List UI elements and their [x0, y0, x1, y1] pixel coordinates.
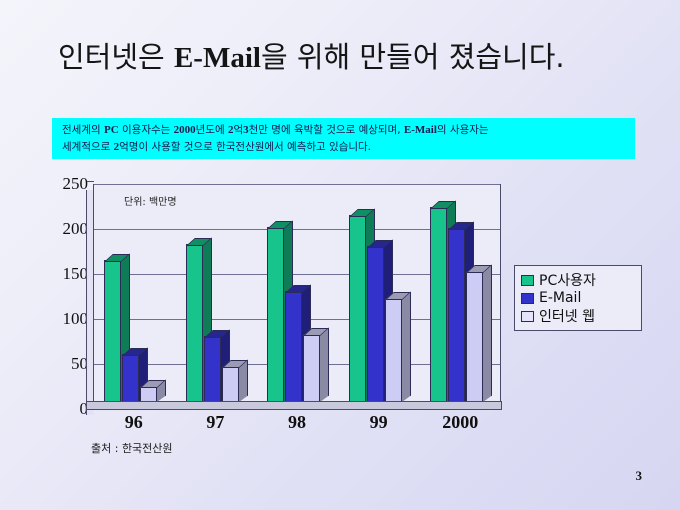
- bar-side: [320, 328, 329, 402]
- legend-swatch-icon: [521, 275, 534, 286]
- bar-인터넷 웹-98: [303, 334, 320, 408]
- bar-side: [483, 265, 492, 402]
- legend-item-E-Mail[interactable]: E-Mail: [521, 289, 637, 307]
- y-axis-tick-label: 200: [52, 219, 88, 239]
- bar-group: [339, 185, 421, 408]
- callout-line-2: 세계적으로 2억명이 사용할 것으로 한국전산원에서 예측하고 있습니다.: [62, 139, 627, 156]
- y-axis-tick-label: 150: [52, 264, 88, 284]
- bar-E-Mail-96: [122, 354, 139, 408]
- bar-face: [466, 271, 483, 408]
- page-number: 3: [636, 468, 643, 484]
- x-axis-tick-label: 99: [338, 412, 420, 433]
- source-note: 출처 : 한국전산원: [91, 440, 173, 456]
- bar-face: [285, 291, 302, 408]
- bar-face: [104, 260, 121, 409]
- x-axis: 969798992000: [93, 412, 501, 436]
- callout-seg-9: 천만 명에 육박할 것으로 예상되며,: [249, 124, 404, 136]
- legend-swatch-icon: [521, 311, 534, 322]
- legend-swatch-icon: [521, 293, 534, 304]
- highlight-callout-box: 전세계의 PC 이용자수는 2000년도에 2억3천만 명에 육박할 것으로 예…: [52, 118, 635, 159]
- callout-seg-4: 2000: [174, 124, 196, 136]
- callout-seg-12: 세계적으로: [62, 141, 114, 153]
- callout-seg-10: E-Mail: [404, 124, 437, 136]
- callout-seg-14: 억명이 사용할 것으로 한국전산원에서 예측하고 있습니다.: [119, 141, 371, 153]
- bar-face: [267, 227, 284, 408]
- bar-face: [448, 228, 465, 408]
- bar-group: [420, 185, 502, 408]
- bar-E-Mail-97: [204, 336, 221, 408]
- callout-seg-3: 이용자수는: [119, 124, 174, 136]
- slide-canvas: 인터넷은 E-Mail을 위해 만들어 졌습니다. 전세계의 PC 이용자수는 …: [0, 0, 680, 510]
- bar-group: [94, 185, 176, 408]
- y-axis-tick-label: 50: [52, 354, 88, 374]
- x-axis-tick-label: 2000: [419, 412, 501, 433]
- bar-PC사용자-98: [267, 227, 284, 408]
- x-axis-tick-label: 96: [93, 412, 175, 433]
- bar-face: [122, 354, 139, 408]
- unit-annotation: 단위: 백만명: [124, 193, 177, 208]
- callout-line-1: 전세계의 PC 이용자수는 2000년도에 2억3천만 명에 육박할 것으로 예…: [62, 122, 627, 139]
- bar-group: [176, 185, 258, 408]
- callout-seg-11: 의 사용자는: [437, 124, 489, 136]
- callout-seg-1: 전세계의: [62, 124, 104, 136]
- bar-PC사용자-96: [104, 260, 121, 409]
- bar-face: [430, 207, 447, 408]
- bar-group: [257, 185, 339, 408]
- title-part-korean-2: 을 위해 만들어 졌습니다.: [261, 40, 565, 74]
- callout-seg-5: 년도에: [196, 124, 228, 136]
- bar-face: [204, 336, 221, 408]
- chart-legend: PC사용자E-Mail인터넷 웹: [514, 265, 642, 331]
- bar-face: [186, 244, 203, 408]
- x-axis-tick-label: 98: [256, 412, 338, 433]
- plot-area: 단위: 백만명: [93, 184, 501, 409]
- bar-face: [349, 215, 366, 409]
- legend-item-PC사용자[interactable]: PC사용자: [521, 271, 637, 289]
- legend-item-인터넷 웹[interactable]: 인터넷 웹: [521, 307, 637, 325]
- y-axis: 050100150200250: [46, 184, 88, 409]
- bar-PC사용자-97: [186, 244, 203, 408]
- bar-face: [385, 298, 402, 408]
- bar-face: [303, 334, 320, 408]
- bar-E-Mail-2000: [448, 228, 465, 408]
- bar-PC사용자-2000: [430, 207, 447, 408]
- callout-seg-7: 억: [233, 124, 243, 136]
- y-axis-tick-label: 250: [52, 174, 88, 194]
- x-axis-tick-label: 97: [175, 412, 257, 433]
- title-part-email: E-Mail: [174, 42, 261, 74]
- bar-PC사용자-99: [349, 215, 366, 409]
- page-title: 인터넷은 E-Mail을 위해 만들어 졌습니다.: [58, 38, 628, 77]
- bar-side: [402, 292, 411, 402]
- bar-인터넷 웹-99: [385, 298, 402, 408]
- legend-label: 인터넷 웹: [539, 306, 595, 326]
- legend-label: E-Mail: [539, 290, 581, 306]
- title-part-korean-1: 인터넷은: [58, 40, 174, 74]
- bar-E-Mail-99: [367, 246, 384, 408]
- bar-인터넷 웹-2000: [466, 271, 483, 408]
- callout-seg-2: PC: [104, 124, 119, 136]
- bar-face: [367, 246, 384, 408]
- bar-E-Mail-98: [285, 291, 302, 408]
- bar-chart: 050100150200250 단위: 백만명 969798992000: [56, 176, 506, 421]
- legend-label: PC사용자: [539, 270, 596, 290]
- y-axis-tick-label: 0: [52, 399, 88, 419]
- y-axis-tick-mark: [87, 181, 94, 182]
- chart-floor: [86, 401, 502, 410]
- y-axis-tick-label: 100: [52, 309, 88, 329]
